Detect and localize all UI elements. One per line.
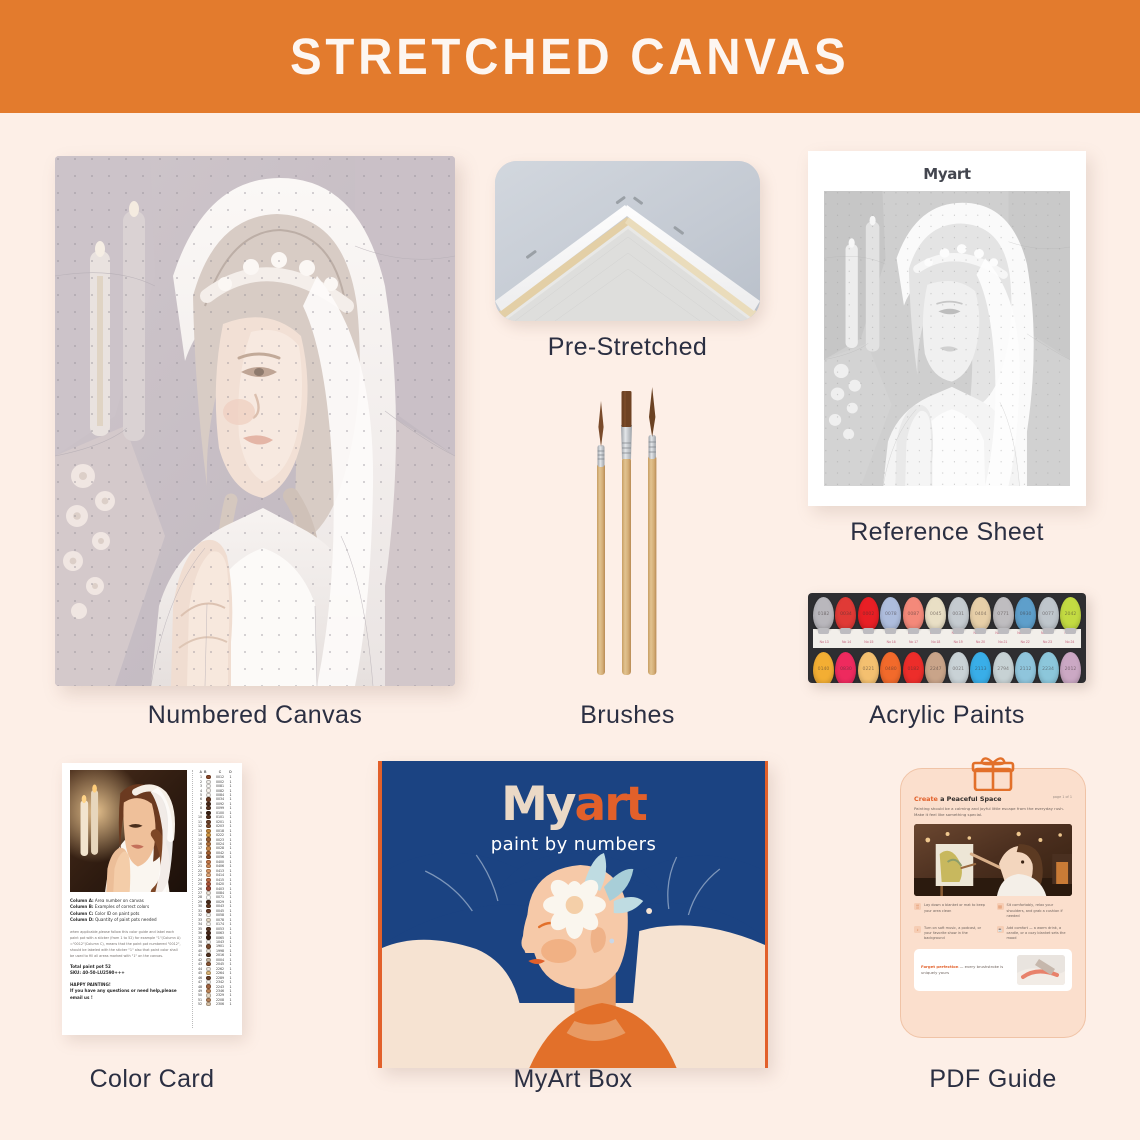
paint-pot: 0078 [880, 597, 901, 631]
pot-quantity: 1 [227, 976, 234, 980]
color-card-page: Column A: Area number on canvas Column B… [62, 763, 242, 1035]
pot-quantity: 1 [227, 980, 234, 984]
reference-outline-artwork [824, 191, 1070, 486]
area-number: 49 [196, 989, 204, 993]
note-line: be used to fill all areas marked with "1… [70, 953, 187, 959]
pdf-guide-page: page 1 of 1 Create a Peaceful Space Pain… [900, 768, 1086, 1038]
paint-pot: 2113 [970, 652, 991, 683]
area-number: 5 [196, 793, 204, 797]
pot-quantity: 1 [227, 869, 234, 873]
color-id: 1998 [213, 949, 227, 953]
area-number: 38 [196, 940, 204, 944]
area-number: 41 [196, 953, 204, 957]
woman-profile-illustration [382, 853, 765, 1068]
pot-quantity: 1 [227, 833, 234, 837]
pot-quantity: 1 [227, 895, 234, 899]
paint-label-code: No 18 [931, 638, 940, 647]
pdf-guide-content: page 1 of 1 Create a Peaceful Space Pain… [914, 795, 1072, 991]
caption-color-card: Color Card [62, 1065, 242, 1094]
paint-label-code: No 17 [909, 638, 918, 647]
pdf-tip-text: Add comfort — a warm drink, a candle, or… [1007, 926, 1073, 942]
total-paint-pot: Total paint pot 52 [70, 964, 187, 971]
numbered-canvas-artwork [55, 156, 455, 686]
pot-quantity: 1 [227, 913, 234, 917]
pot-quantity: 1 [227, 904, 234, 908]
pot-quantity: 1 [227, 824, 234, 828]
paint-pot-id: 2012 [1060, 652, 1081, 683]
pdf-heading-highlight: Create [914, 795, 938, 803]
color-id: 0023 [213, 838, 227, 842]
brush-flat-wide [621, 391, 632, 675]
pot-quantity: 1 [227, 962, 234, 966]
paint-pot-id: 0830 [835, 652, 856, 683]
color-card-table-header: A B C D [196, 770, 234, 774]
paint-pot-id: 0045 [925, 597, 946, 631]
music-icon: ♪ [914, 926, 921, 933]
area-number: 27 [196, 891, 204, 895]
color-id: 2262 [213, 967, 227, 971]
page-header: STRETCHED CANVAS [0, 0, 1140, 113]
paint-pot-id: 2794 [993, 652, 1014, 683]
paint-label-code: No 15 [864, 638, 873, 647]
area-number: 18 [196, 851, 204, 855]
paint-pot: 0045 [925, 597, 946, 631]
myart-box-image: Myart paint by numbers [378, 761, 768, 1068]
color-id: 0053 [213, 927, 227, 931]
pot-quantity: 1 [227, 998, 234, 1002]
area-number: 6 [196, 797, 204, 801]
color-card-totals: Total paint pot 52 SKU: 40-50-LU2590+++ [70, 964, 187, 977]
gift-icon [971, 757, 1015, 796]
paint-pot: 0480 [880, 652, 901, 683]
paint-pot: 2234 [1038, 652, 1059, 683]
paint-pot: 2042 [1060, 597, 1081, 631]
paint-tray: 0182003400020078008700450031040407710930… [808, 593, 1086, 683]
color-id: 0071 [213, 895, 227, 899]
color-id: 0092 [213, 802, 227, 806]
pot-quantity: 1 [227, 958, 234, 962]
area-number: 44 [196, 967, 204, 971]
brushes-image [548, 385, 708, 675]
paint-pot-id: 0771 [993, 597, 1014, 631]
brush-round-small [597, 401, 605, 675]
paint-label-code: No 14 [842, 638, 851, 647]
paint-pot: 0087 [903, 597, 924, 631]
area-number: 32 [196, 913, 204, 917]
broom-icon: ▒ [914, 903, 921, 910]
area-number: 39 [196, 944, 204, 948]
color-id: 0065 [213, 936, 227, 940]
myart-logo: Myart paint by numbers [382, 777, 765, 855]
pot-quantity: 1 [227, 882, 234, 886]
pdf-tip: ☕Add comfort — a warm drink, a candle, o… [997, 926, 1073, 942]
area-number: 42 [196, 958, 204, 962]
paint-label-code: No 20 [976, 638, 985, 647]
area-number: 37 [196, 936, 204, 940]
paint-pot: 0002 [858, 597, 879, 631]
pre-stretched-photo [495, 161, 760, 321]
area-number: 10 [196, 815, 204, 819]
paint-pot: 2112 [1015, 652, 1036, 683]
color-id: 0400 [213, 860, 227, 864]
color-id: 0406 [213, 864, 227, 868]
color-id: 0413 [213, 869, 227, 873]
note-line: should be labeled with the sticker "1" a… [70, 947, 187, 953]
color-id: 0201 [213, 820, 227, 824]
area-number: 30 [196, 904, 204, 908]
color-id: 2208 [213, 998, 227, 1002]
pot-quantity: 1 [227, 944, 234, 948]
color-id: 2329 [213, 993, 227, 997]
pot-quantity: 1 [227, 802, 234, 806]
pot-quantity: 1 [227, 993, 234, 997]
brushstroke-photo [1017, 955, 1065, 985]
color-id: 0100 [213, 811, 227, 815]
color-id: 0002 [213, 780, 227, 784]
area-number: 2 [196, 780, 204, 784]
pot-quantity: 1 [227, 967, 234, 971]
paint-pot-id: 0404 [970, 597, 991, 631]
pre-stretched-image [495, 161, 760, 321]
sku-line: SKU: 40-50-LU2590+++ [70, 970, 187, 977]
pot-quantity: 1 [227, 918, 234, 922]
pot-quantity: 1 [227, 820, 234, 824]
color-id: 0222 [213, 833, 227, 837]
pot-quantity: 1 [227, 780, 234, 784]
paint-pot: 2794 [993, 652, 1014, 683]
pot-quantity: 1 [227, 838, 234, 842]
caption-pdf-guide: PDF Guide [900, 1065, 1086, 1094]
pdf-callout-text: Forget perfection — every brushstroke is… [921, 964, 1011, 975]
pot-quantity: 1 [227, 789, 234, 793]
paint-label-codes-bottom: No 13No 14No 15No 16No 17No 18No 19No 20… [813, 638, 1081, 647]
pot-quantity: 1 [227, 851, 234, 855]
color-card-footer: HAPPY PAINTING! If you have any question… [70, 982, 187, 1002]
pot-quantity: 1 [227, 797, 234, 801]
paint-label-code: No 23 [1043, 638, 1052, 647]
myart-wordmark: Myart [382, 777, 765, 832]
color-id: 2342 [213, 980, 227, 984]
color-id: 2289 [213, 976, 227, 980]
color-id: 0018 [213, 829, 227, 833]
color-id: 0056 [213, 855, 227, 859]
color-id: 2346 [213, 989, 227, 993]
paint-label-code: No 24 [1065, 638, 1074, 647]
pdf-tip-list: ▒Lay down a blanket or mat to keep your … [914, 903, 1072, 941]
paint-label-code: No 13 [820, 638, 829, 647]
pdf-tip-text: Sit comfortably, relax your shoulders, a… [1007, 903, 1073, 919]
pdf-callout-image [1017, 955, 1065, 985]
color-id: 0081 [213, 784, 227, 788]
paint-pot: 0182 [903, 652, 924, 683]
paint-pot-id: 0031 [948, 597, 969, 631]
area-number: 4 [196, 789, 204, 793]
paint-pot-id: 0221 [858, 652, 879, 683]
color-id: 2016 [213, 953, 227, 957]
color-id: 0004 [213, 958, 227, 962]
paint-pot: 0031 [948, 597, 969, 631]
reference-sheet-image: Myart [808, 151, 1086, 506]
area-number: 40 [196, 949, 204, 953]
area-number: 50 [196, 993, 204, 997]
paint-pot-id: 0480 [880, 652, 901, 683]
paint-pot-id: 2247 [925, 652, 946, 683]
paint-pot-id: 0182 [813, 597, 834, 631]
color-id: 0028 [213, 846, 227, 850]
color-card-legend: Column A: Area number on canvas Column B… [70, 898, 187, 924]
pdf-heading: page 1 of 1 Create a Peaceful Space [914, 795, 1072, 803]
color-id: 0058 [213, 913, 227, 917]
product-grid: Numbered Canvas [0, 113, 1140, 1140]
paint-pot-id: 0077 [1038, 597, 1059, 631]
area-number: 16 [196, 842, 204, 846]
color-id: 0034 [213, 797, 227, 801]
color-id: 0420 [213, 882, 227, 886]
color-card-photo [70, 770, 187, 892]
paint-pot: 0771 [993, 597, 1014, 631]
paint-pot: 0182 [813, 597, 834, 631]
area-number: 23 [196, 873, 204, 877]
reference-photo [70, 770, 187, 892]
pdf-page-label: page 1 of 1 [1053, 795, 1072, 799]
pdf-tip-text: Lay down a blanket or mat to keep your a… [924, 903, 990, 919]
paint-pot-id: 0182 [903, 652, 924, 683]
note-line: when applicable,please follow this color… [70, 929, 187, 935]
paint-pot-id: 0034 [835, 597, 856, 631]
pot-quantity: 1 [227, 940, 234, 944]
pot-quantity: 1 [227, 842, 234, 846]
color-id: 2264 [213, 971, 227, 975]
pot-quantity: 1 [227, 909, 234, 913]
numbered-canvas-image [55, 156, 455, 686]
color-id: 0024 [213, 842, 227, 846]
area-number: 21 [196, 864, 204, 868]
paint-pot-id: 0140 [813, 652, 834, 683]
area-number: 17 [196, 846, 204, 850]
pdf-tip: ▒Lay down a blanket or mat to keep your … [914, 903, 990, 919]
pot-quantity: 1 [227, 927, 234, 931]
color-id: 0203 [213, 824, 227, 828]
pot-quantity: 1 [227, 936, 234, 940]
pot-quantity: 1 [227, 860, 234, 864]
paint-pot-id: 2113 [970, 652, 991, 683]
brushes-illustration [548, 385, 708, 675]
area-number: 33 [196, 918, 204, 922]
acrylic-paints-image: 0182003400020078008700450031040407710930… [808, 593, 1086, 683]
area-number: 34 [196, 922, 204, 926]
color-card-image: Column A: Area number on canvas Column B… [62, 763, 242, 1035]
paint-pot: 0077 [1038, 597, 1059, 631]
paint-label-code: No 22 [1021, 638, 1030, 647]
pdf-callout: Forget perfection — every brushstroke is… [914, 949, 1072, 991]
color-id: 0082 [213, 789, 227, 793]
area-number: 11 [196, 820, 204, 824]
pdf-subtitle: Painting should be a calming and joyful … [914, 806, 1072, 818]
color-id: 0063 [213, 931, 227, 935]
paint-pot: 0221 [858, 652, 879, 683]
area-number: 28 [196, 895, 204, 899]
color-id: 0415 [213, 878, 227, 882]
caption-pre-stretched: Pre-Stretched [495, 333, 760, 362]
area-number: 14 [196, 833, 204, 837]
pdf-tip: ▤Sit comfortably, relax your shoulders, … [997, 903, 1073, 919]
color-id: 0012 [213, 775, 227, 779]
area-number: 1 [196, 775, 204, 779]
area-number: 29 [196, 900, 204, 904]
area-number: 19 [196, 855, 204, 859]
pdf-callout-highlight: Forget perfection [921, 964, 958, 969]
chair-icon: ▤ [997, 903, 1004, 910]
color-id: 0029 [213, 900, 227, 904]
paint-pot: 0930 [1015, 597, 1036, 631]
area-number: 31 [196, 909, 204, 913]
myart-box-illustration [382, 853, 765, 1068]
color-id: 1901 [213, 944, 227, 948]
happy-painting: HAPPY PAINTING! [70, 982, 187, 989]
paint-pot: 2012 [1060, 652, 1081, 683]
area-number: 24 [196, 878, 204, 882]
area-number: 3 [196, 784, 204, 788]
area-number: 15 [196, 838, 204, 842]
pdf-guide-image: page 1 of 1 Create a Peaceful Space Pain… [900, 768, 1086, 1038]
area-number: 43 [196, 962, 204, 966]
reference-sheet-logo: Myart [923, 165, 970, 183]
caption-reference-sheet: Reference Sheet [808, 518, 1086, 547]
pdf-tip: ♪Turn on soft music, a podcast, or your … [914, 926, 990, 942]
color-id: 2243 [213, 985, 227, 989]
paint-pot-id: 0087 [903, 597, 924, 631]
pdf-guide-photo [914, 824, 1072, 896]
color-card-table: A B C D 10012120002130081140082150084160… [192, 770, 234, 1028]
logo-art: art [575, 777, 646, 832]
color-id: 2045 [213, 962, 227, 966]
pot-quantity: 1 [227, 864, 234, 868]
area-number: 47 [196, 980, 204, 984]
myart-box-package: Myart paint by numbers [378, 761, 768, 1068]
paint-label-code: No 16 [887, 638, 896, 647]
color-id: 0045 [213, 909, 227, 913]
caption-myart-box: MyArt Box [378, 1065, 768, 1094]
pot-quantity: 1 [227, 878, 234, 882]
area-number: 35 [196, 927, 204, 931]
paint-pot-row-bottom: 0140083002210480018222470021211327942112… [813, 652, 1081, 683]
paint-pot: 0021 [948, 652, 969, 683]
note-line: ="0012"(Column C), means that the paint … [70, 941, 187, 947]
paint-pot-id: 2042 [1060, 597, 1081, 631]
reference-sheet-artwork [824, 191, 1070, 486]
pot-quantity: 1 [227, 949, 234, 953]
color-id: 0042 [213, 851, 227, 855]
pot-quantity: 1 [227, 985, 234, 989]
area-number: 36 [196, 931, 204, 935]
page-title: STRETCHED CANVAS [290, 27, 849, 86]
caption-brushes: Brushes [495, 701, 760, 730]
color-id: 1043 [213, 940, 227, 944]
contact-line: If you have any questions or need help,p… [70, 988, 187, 1001]
legend-row: Column D: Quantity of paint pots needed [70, 917, 187, 923]
paint-pot-id: 2112 [1015, 652, 1036, 683]
color-id: 2306 [213, 1002, 227, 1006]
myart-tagline: paint by numbers [382, 834, 765, 855]
pot-quantity: 1 [227, 931, 234, 935]
color-card-row-list: 1001212000213008114008215008416003417009… [196, 775, 234, 1007]
pdf-heading-rest: a Peaceful Space [938, 795, 1002, 803]
color-card-left-column: Column A: Area number on canvas Column B… [70, 770, 187, 1028]
pot-quantity: 1 [227, 887, 234, 891]
paint-pot-id: 0021 [948, 652, 969, 683]
pot-quantity: 1 [227, 989, 234, 993]
area-number: 9 [196, 811, 204, 815]
gift-box-glyph [971, 757, 1015, 791]
pot-quantity: 1 [227, 891, 234, 895]
pot-quantity: 1 [227, 873, 234, 877]
paint-pot: 0140 [813, 652, 834, 683]
brush-round-detail [648, 387, 656, 675]
paint-pot-id: 2234 [1038, 652, 1059, 683]
color-id: 0414 [213, 873, 227, 877]
color-id: 0084 [213, 891, 227, 895]
area-number: 8 [196, 806, 204, 810]
area-number: 25 [196, 882, 204, 886]
pot-quantity: 1 [227, 793, 234, 797]
paint-pot: 0830 [835, 652, 856, 683]
pot-quantity: 1 [227, 953, 234, 957]
logo-my: My [501, 777, 574, 832]
pot-quantity: 1 [227, 829, 234, 833]
color-card-note: when applicable,please follow this color… [70, 929, 187, 959]
paint-pot-row-top: 0182003400020078008700450031040407710930… [813, 597, 1081, 633]
pot-quantity: 1 [227, 971, 234, 975]
area-number: 20 [196, 860, 204, 864]
pot-quantity: 1 [227, 806, 234, 810]
area-number: 51 [196, 998, 204, 1002]
paint-pot: 2247 [925, 652, 946, 683]
area-number: 22 [196, 869, 204, 873]
paint-pot: 0034 [835, 597, 856, 631]
color-id: 0078 [213, 918, 227, 922]
paint-label-code: No 21 [998, 638, 1007, 647]
pot-quantity: 1 [227, 855, 234, 859]
color-id: 0099 [213, 806, 227, 810]
pot-quantity: 1 [227, 900, 234, 904]
canvas-corner-illustration [495, 161, 760, 321]
pot-quantity: 1 [227, 922, 234, 926]
area-number: 26 [196, 887, 204, 891]
paint-pot-id: 0002 [858, 597, 879, 631]
color-card-row: 5223061 [196, 1002, 234, 1006]
pot-quantity: 1 [227, 815, 234, 819]
paint-pot-id: 0930 [1015, 597, 1036, 631]
canvas-frame [55, 156, 455, 686]
pot-quantity: 1 [227, 846, 234, 850]
pot-quantity: 1 [227, 784, 234, 788]
pot-quantity: 1 [227, 1002, 234, 1006]
color-swatch [204, 1002, 213, 1006]
pot-quantity: 1 [227, 775, 234, 779]
woman-painting-photo [914, 824, 1072, 896]
note-line: paint pot with a sticker (from 1 to 52) … [70, 935, 187, 941]
pdf-tip-text: Turn on soft music, a podcast, or your f… [924, 926, 990, 942]
paint-pot: 0404 [970, 597, 991, 631]
area-number: 48 [196, 985, 204, 989]
area-number: 13 [196, 829, 204, 833]
color-id: 0101 [213, 815, 227, 819]
area-number: 52 [196, 1002, 204, 1006]
paint-label-code: No 19 [954, 638, 963, 647]
reference-sheet-page: Myart [808, 151, 1086, 506]
caption-numbered-canvas: Numbered Canvas [55, 701, 455, 730]
paint-pot-id: 0078 [880, 597, 901, 631]
